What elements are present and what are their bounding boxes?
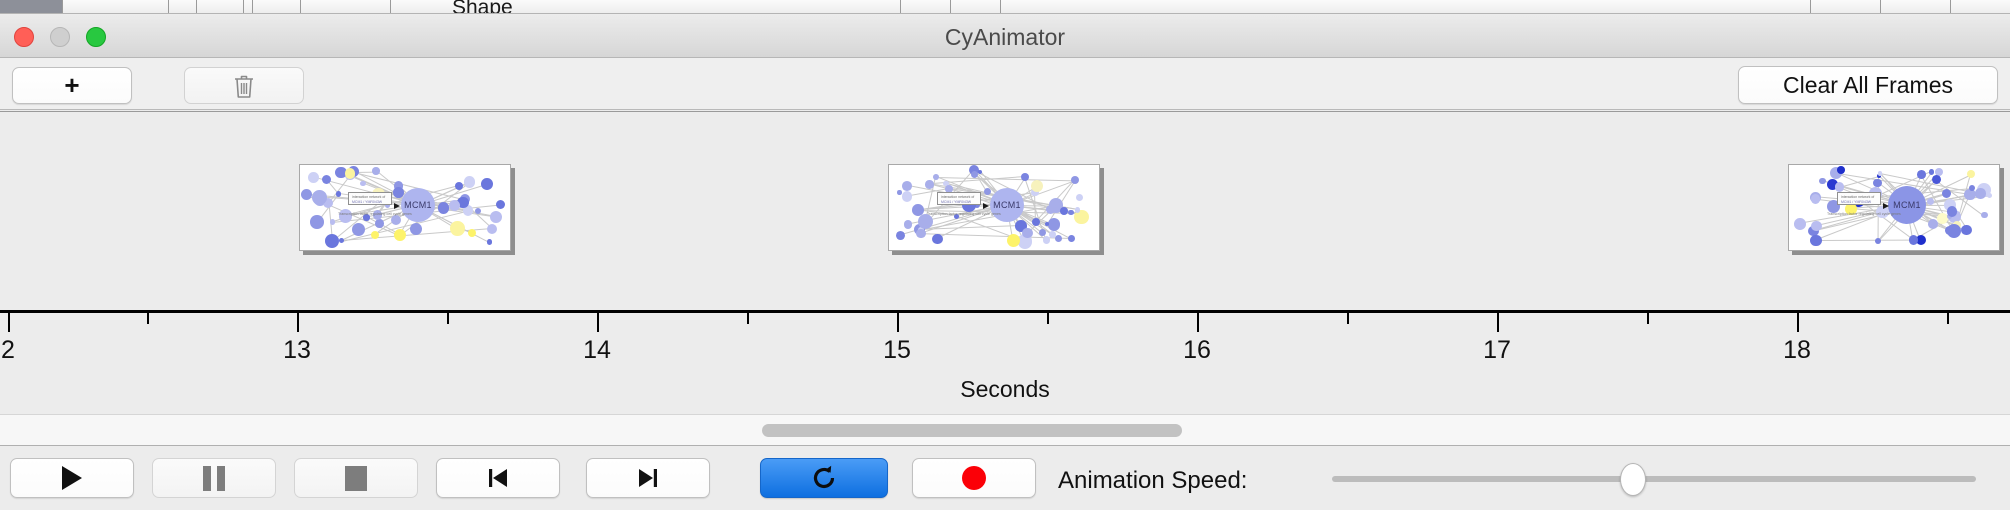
network-node: [308, 172, 319, 183]
callout-arrow-icon: [1883, 203, 1889, 209]
loop-button[interactable]: [760, 458, 888, 498]
animation-speed-label: Animation Speed:: [1058, 467, 1247, 495]
network-node: [1981, 212, 1988, 219]
network-node: [897, 190, 901, 194]
slider-track[interactable]: [1332, 476, 1976, 482]
network-node: [490, 211, 502, 223]
network-node: [902, 181, 912, 191]
ruler-tick-label: 17: [1483, 336, 1511, 365]
ruler-tick-major: [897, 313, 899, 332]
frame-network-preview: MCM1interaction network ofMCM1 / YMR043W…: [300, 165, 510, 250]
network-caption: Transcription factor regulating cell cyc…: [1827, 212, 1901, 216]
network-caption: Transcription factor regulating cell cyc…: [927, 212, 1001, 216]
network-node: [1811, 194, 1821, 204]
time-ruler: Seconds 2131415161718: [0, 310, 2010, 414]
network-node: [312, 190, 327, 205]
timeline-frame-thumbnail[interactable]: MCM1interaction network ofMCM1 / YMR043W…: [1788, 164, 2000, 251]
network-node: [1878, 171, 1882, 175]
network-node: [1927, 198, 1934, 205]
timeline-frame-thumbnail[interactable]: MCM1interaction network ofMCM1 / YMR043W…: [299, 164, 511, 251]
network-node: [352, 223, 365, 236]
network-node: [1811, 221, 1822, 232]
ruler-tick-major: [8, 313, 10, 332]
frames-track[interactable]: MCM1interaction network ofMCM1 / YMR043W…: [0, 112, 2010, 310]
network-node: [464, 176, 476, 188]
callout-arrow-icon: [394, 203, 400, 209]
record-button[interactable]: [912, 458, 1036, 498]
network-node: [925, 180, 934, 189]
frame-network-preview: MCM1interaction network ofMCM1 / YMR043W…: [1789, 165, 1999, 250]
record-icon: [962, 466, 986, 490]
ruler-tick-label: 13: [283, 336, 311, 365]
network-node: [310, 215, 324, 229]
network-node: [339, 238, 344, 243]
network-node: [1794, 218, 1806, 230]
skip-forward-icon: [635, 465, 661, 491]
bg-divider: [950, 0, 951, 14]
network-node: [410, 223, 422, 235]
clear-all-frames-button[interactable]: Clear All Frames: [1738, 66, 1998, 104]
bg-divider: [62, 0, 63, 14]
network-node: [1043, 236, 1051, 244]
bg-divider: [300, 0, 301, 14]
plus-icon: +: [64, 70, 79, 101]
network-edge: [1816, 240, 1921, 241]
network-node: [1060, 207, 1068, 215]
network-node: [896, 231, 905, 240]
network-node: [902, 191, 913, 202]
network-node: [1917, 170, 1926, 179]
network-caption: Transcription factor regulating cell cyc…: [338, 212, 412, 216]
network-node: [336, 191, 341, 196]
skip-back-icon: [485, 465, 511, 491]
network-node: [933, 174, 939, 180]
ruler-baseline: [0, 310, 2010, 313]
network-node: [330, 219, 335, 224]
slider-knob[interactable]: [1620, 463, 1646, 496]
pause-icon: [203, 466, 225, 491]
network-node: [1031, 180, 1043, 192]
play-icon: [62, 466, 82, 490]
trash-icon: [232, 73, 256, 99]
network-node: [1961, 225, 1972, 236]
add-frame-button[interactable]: +: [12, 67, 132, 104]
network-node: [932, 234, 942, 244]
network-callout: interaction network ofMCM1 / YMR043W: [1837, 192, 1881, 205]
top-toolbar: + Clear All Frames: [0, 58, 2010, 110]
ruler-tick-major: [597, 313, 599, 332]
network-node: [487, 224, 497, 234]
ruler-tick-minor: [147, 313, 149, 324]
stop-button[interactable]: [294, 458, 418, 498]
network-hub-node: MCM1: [1888, 186, 1926, 224]
network-node: [1076, 194, 1083, 201]
network-node: [301, 189, 313, 201]
ruler-tick-minor: [1047, 313, 1049, 324]
ruler-tick-label: 16: [1183, 336, 1211, 365]
background-window-label: Shape: [452, 0, 513, 14]
network-node: [1049, 231, 1055, 237]
title-bar: CyAnimator: [0, 14, 2010, 58]
network-node: [391, 215, 401, 225]
ruler-tick-minor: [447, 313, 449, 324]
network-callout: interaction network ofMCM1 / YMR043W: [937, 192, 981, 205]
network-node: [375, 219, 384, 228]
playback-control-bar: Animation Speed:: [0, 447, 2010, 510]
ruler-tick-minor: [747, 313, 749, 324]
network-node: [345, 168, 355, 178]
network-node: [1932, 175, 1941, 184]
network-node: [904, 220, 912, 228]
ruler-tick-major: [1797, 313, 1799, 332]
bg-divider: [168, 0, 169, 14]
network-node: [394, 229, 406, 241]
network-node: [1967, 170, 1975, 178]
bg-divider: [196, 0, 197, 14]
network-node: [455, 182, 463, 190]
network-node: [1975, 188, 1985, 198]
ruler-tick-label: 2: [1, 336, 15, 365]
network-node: [450, 221, 465, 236]
network-node: [1909, 235, 1918, 244]
network-node: [1068, 210, 1073, 215]
network-node: [372, 167, 379, 174]
bg-divider: [1000, 0, 1001, 14]
ruler-tick-major: [297, 313, 299, 332]
network-hub-node: MCM1: [401, 188, 435, 222]
network-node: [1835, 182, 1845, 192]
clear-all-frames-label: Clear All Frames: [1783, 72, 1953, 99]
frame-network-preview: MCM1interaction network ofMCM1 / YMR043W…: [889, 165, 1099, 250]
network-node: [916, 229, 925, 238]
ruler-tick-label: 14: [583, 336, 611, 365]
network-node: [1947, 224, 1961, 238]
cyanimator-window: Shape CyAnimator + Clear All Frames MCM1…: [0, 0, 2010, 510]
ruler-tick-major: [1197, 313, 1199, 332]
network-node: [487, 239, 493, 245]
network-node: [1071, 176, 1079, 184]
previous-frame-button[interactable]: [436, 458, 560, 498]
ruler-tick-label: 15: [883, 336, 911, 365]
scrollbar-thumb[interactable]: [762, 424, 1182, 437]
network-node: [468, 229, 476, 237]
network-node: [1929, 169, 1935, 175]
bg-divider: [1880, 0, 1881, 14]
pause-button[interactable]: [152, 458, 276, 498]
background-window-strip: Shape: [0, 0, 2010, 14]
bg-divider: [252, 0, 253, 14]
timeline-frame-thumbnail[interactable]: MCM1interaction network ofMCM1 / YMR043W…: [888, 164, 1100, 251]
network-node: [496, 200, 505, 209]
network-hub-node: MCM1: [990, 188, 1024, 222]
ruler-tick-major: [1497, 313, 1499, 332]
bg-divider: [243, 0, 244, 14]
play-button[interactable]: [10, 458, 134, 498]
animation-speed-slider[interactable]: [1332, 476, 1976, 482]
network-node: [481, 178, 493, 190]
bg-divider: [1950, 0, 1951, 14]
network-node: [1055, 235, 1062, 242]
stop-icon: [345, 466, 367, 491]
next-frame-button[interactable]: [586, 458, 710, 498]
window-title: CyAnimator: [0, 24, 2010, 51]
ruler-tick-minor: [1947, 313, 1949, 324]
network-node: [1942, 189, 1951, 198]
bg-divider: [390, 0, 391, 14]
network-node: [449, 200, 460, 211]
background-window-header: [0, 0, 62, 13]
network-node: [1810, 235, 1822, 247]
network-node: [1048, 218, 1061, 231]
network-node: [438, 202, 450, 214]
delete-frame-button[interactable]: [184, 67, 304, 104]
network-node: [1021, 173, 1029, 181]
network-node: [1947, 206, 1957, 216]
network-node: [360, 181, 365, 186]
bg-divider: [1810, 0, 1811, 14]
network-node: [325, 234, 339, 248]
network-node: [1875, 238, 1881, 244]
network-node: [984, 188, 991, 195]
ruler-tick-minor: [1647, 313, 1649, 324]
callout-arrow-icon: [983, 203, 989, 209]
network-node: [1819, 178, 1826, 185]
loop-icon: [810, 464, 838, 492]
network-callout: interaction network ofMCM1 / YMR043W: [348, 192, 392, 205]
ruler-tick-minor: [1347, 313, 1349, 324]
axis-title: Seconds: [0, 376, 2010, 403]
timeline-panel[interactable]: MCM1interaction network ofMCM1 / YMR043W…: [0, 111, 2010, 414]
ruler-tick-label: 18: [1783, 336, 1811, 365]
network-node: [371, 231, 379, 239]
network-node: [1022, 228, 1033, 239]
timeline-scrollbar[interactable]: [0, 414, 2010, 446]
network-node: [1068, 235, 1075, 242]
network-node: [1837, 166, 1845, 174]
bg-divider: [900, 0, 901, 14]
